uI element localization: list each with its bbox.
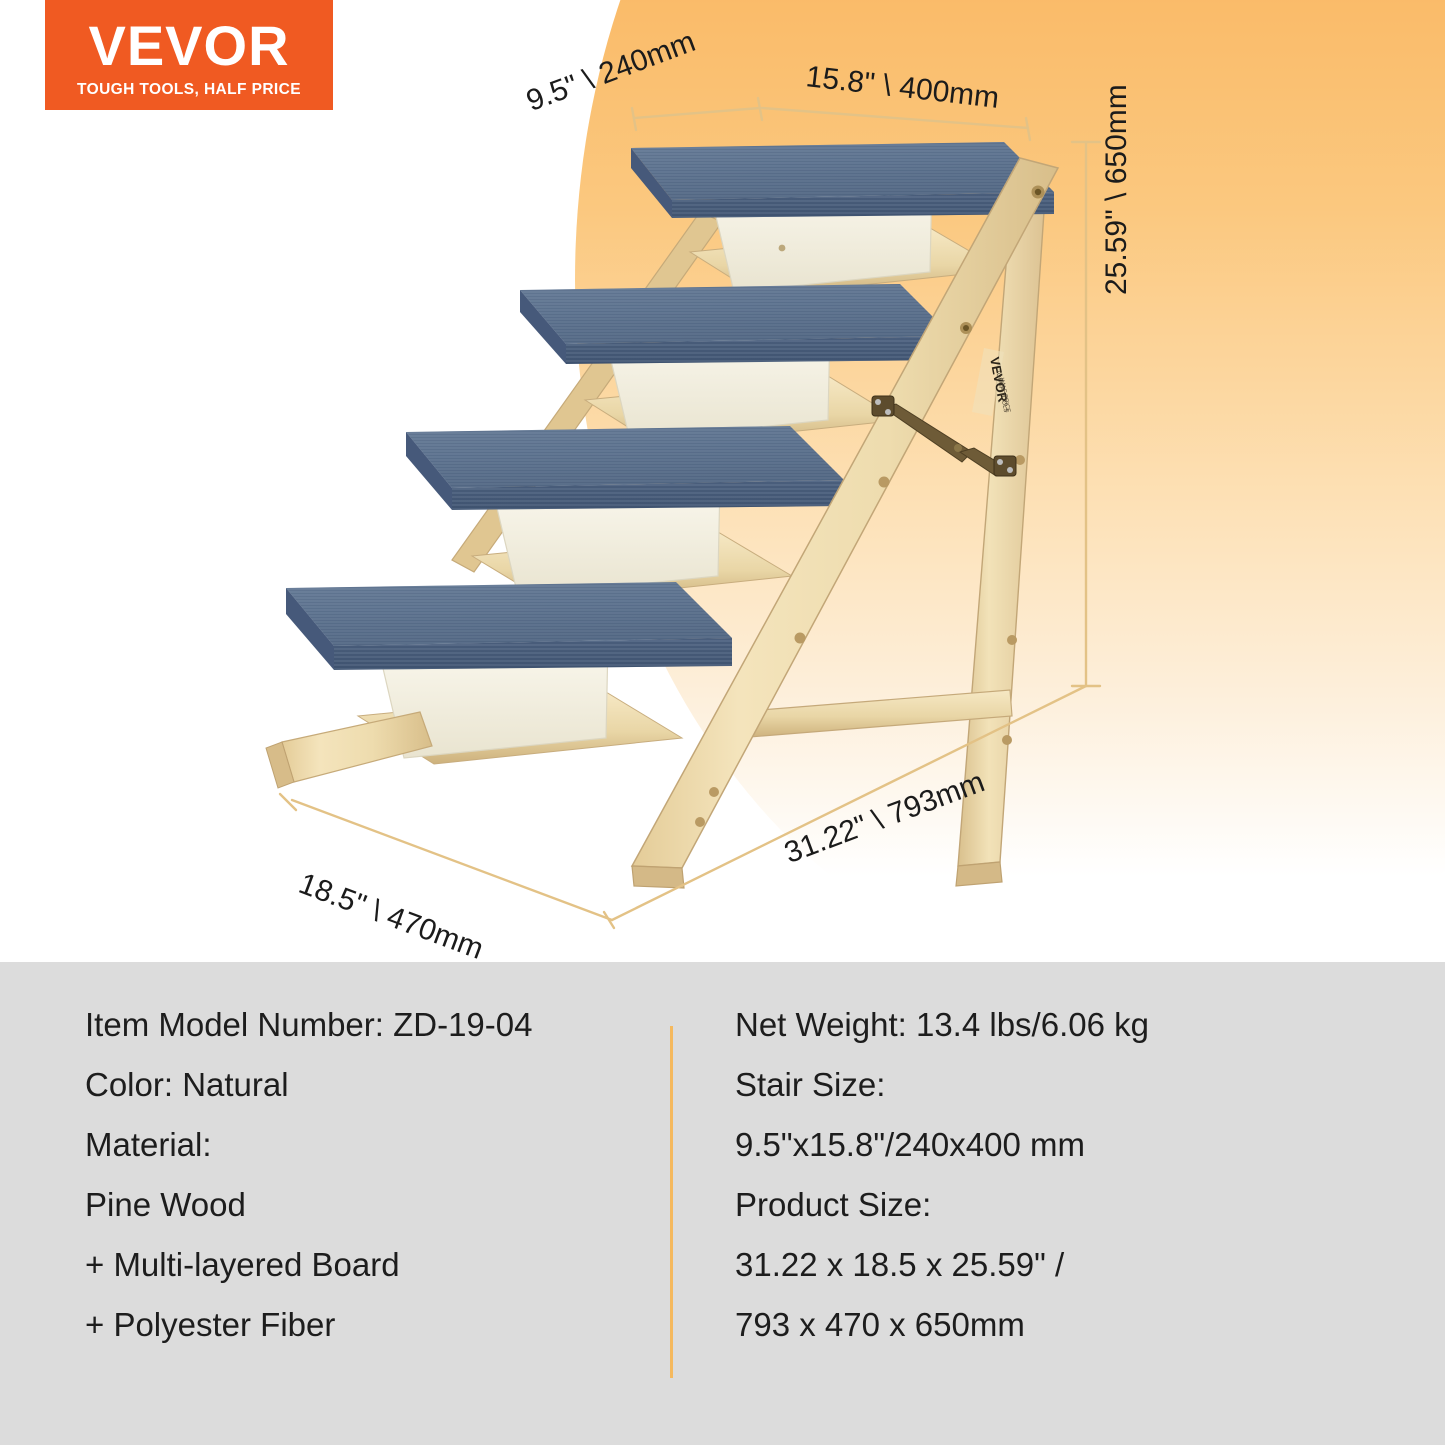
- spec-stair-size-value: 9.5"x15.8"/240x400 mm: [735, 1128, 1355, 1161]
- product-spec-page: VEVOR TOUGH TOOLS HALF PRICE: [0, 0, 1445, 1445]
- spec-material-1: Pine Wood: [85, 1188, 655, 1221]
- spec-color: Color: Natural: [85, 1068, 655, 1101]
- front-left-foot: [266, 712, 432, 788]
- step-2: [406, 426, 844, 602]
- specification-panel: Item Model Number: ZD-19-04 Color: Natur…: [0, 962, 1445, 1445]
- spec-stair-size-label: Stair Size:: [735, 1068, 1355, 1101]
- spec-column-left: Item Model Number: ZD-19-04 Color: Natur…: [85, 1008, 655, 1368]
- logo-tagline: TOUGH TOOLS, HALF PRICE: [77, 81, 301, 99]
- dimension-total-height: 25.59" \ 650mm: [1100, 84, 1134, 295]
- logo-wordmark: VEVOR: [88, 18, 289, 74]
- product-illustration: VEVOR TOUGH TOOLS HALF PRICE: [0, 0, 1445, 962]
- product-hero-area: VEVOR TOUGH TOOLS HALF PRICE: [0, 0, 1445, 962]
- spec-product-size-label: Product Size:: [735, 1188, 1355, 1221]
- spec-product-size-in: 31.22 x 18.5 x 25.59" /: [735, 1248, 1355, 1281]
- spec-column-right: Net Weight: 13.4 lbs/6.06 kg Stair Size:…: [735, 1008, 1355, 1368]
- spec-material-2: + Multi-layered Board: [85, 1248, 655, 1281]
- spec-material-3: + Polyester Fiber: [85, 1308, 655, 1341]
- column-divider: [670, 1026, 673, 1378]
- spec-net-weight: Net Weight: 13.4 lbs/6.06 kg: [735, 1008, 1355, 1041]
- spec-product-size-mm: 793 x 470 x 650mm: [735, 1308, 1355, 1341]
- spec-item-model-number: Item Model Number: ZD-19-04: [85, 1008, 655, 1041]
- spec-material-label: Material:: [85, 1128, 655, 1161]
- vevor-logo: VEVOR TOUGH TOOLS, HALF PRICE: [45, 0, 333, 110]
